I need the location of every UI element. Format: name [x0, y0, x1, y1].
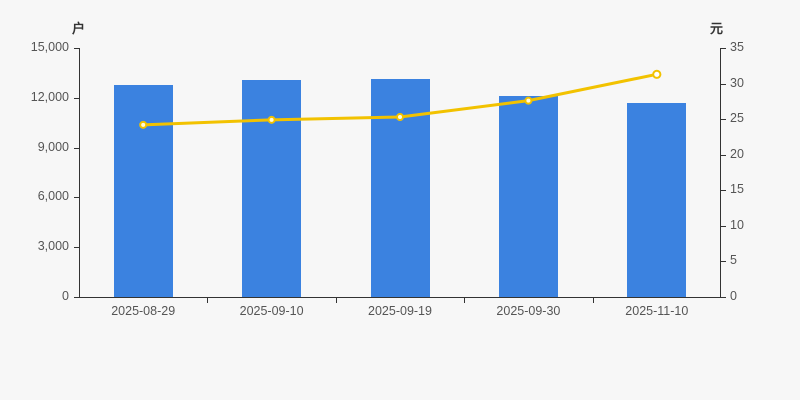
right-axis-unit-label: 元: [710, 18, 723, 37]
line-data-point[interactable]: [653, 71, 660, 78]
right-axis-tick-mark: [721, 48, 726, 49]
right-axis-tick-label: 0: [730, 289, 737, 303]
x-axis-tick-mark: [207, 298, 208, 303]
right-axis-tick-label: 35: [730, 40, 744, 54]
left-y-axis-line: [79, 48, 80, 298]
right-axis-tick-label: 10: [730, 218, 744, 232]
left-axis-unit-label: 户: [72, 18, 85, 37]
left-axis-tick-label: 0: [62, 289, 69, 303]
right-axis-tick-label: 30: [730, 76, 744, 90]
x-axis-category-label: 2025-09-19: [368, 304, 432, 318]
right-axis-tick-label: 5: [730, 253, 737, 267]
right-axis-tick-mark: [721, 119, 726, 120]
left-axis-tick-mark: [74, 48, 79, 49]
x-axis-category-label: 2025-09-30: [496, 304, 560, 318]
right-axis-tick-label: 20: [730, 147, 744, 161]
right-axis-tick-label: 25: [730, 111, 744, 125]
x-axis-category-label: 2025-09-10: [240, 304, 304, 318]
x-axis-category-label: 2025-08-29: [111, 304, 175, 318]
x-axis-tick-mark: [336, 298, 337, 303]
right-axis-tick-mark: [721, 226, 726, 227]
x-axis-category-label: 2025-11-10: [625, 304, 688, 318]
left-axis-tick-mark: [74, 98, 79, 99]
right-axis-tick-label: 15: [730, 182, 744, 196]
x-axis-tick-mark: [464, 298, 465, 303]
bar[interactable]: [114, 85, 173, 297]
left-axis-tick-mark: [74, 247, 79, 248]
right-axis-tick-mark: [721, 190, 726, 191]
bar[interactable]: [627, 103, 686, 297]
right-axis-tick-mark: [721, 261, 726, 262]
bar[interactable]: [242, 80, 301, 297]
left-axis-tick-label: 9,000: [38, 140, 69, 154]
x-axis-line: [79, 297, 721, 298]
left-axis-tick-label: 6,000: [38, 189, 69, 203]
right-axis-tick-mark: [721, 155, 726, 156]
x-axis-tick-mark: [593, 298, 594, 303]
dual-axis-chart: 户 元 03,0006,0009,00012,00015,000 0510152…: [0, 0, 800, 400]
left-axis-tick-mark: [74, 297, 79, 298]
bar[interactable]: [499, 96, 558, 297]
left-axis-tick-label: 3,000: [38, 239, 69, 253]
bar[interactable]: [371, 79, 430, 297]
left-axis-tick-label: 12,000: [31, 90, 69, 104]
right-axis-tick-mark: [721, 84, 726, 85]
left-axis-tick-mark: [74, 197, 79, 198]
left-axis-tick-mark: [74, 148, 79, 149]
left-axis-tick-label: 15,000: [31, 40, 69, 54]
right-axis-tick-mark: [721, 297, 726, 298]
